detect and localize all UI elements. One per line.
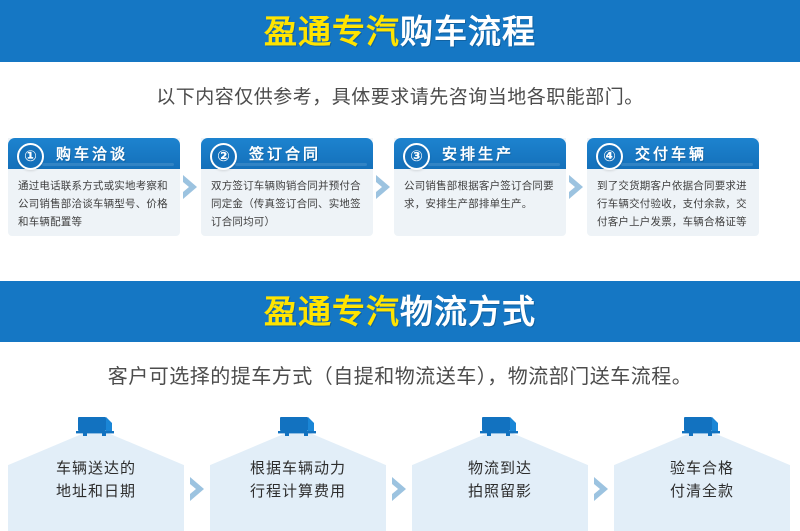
logistics-step-line2-3: 拍照留影 xyxy=(412,481,588,504)
logistics-subtitle: 客户可选择的提车方式（自提和物流送车），物流部门送车流程。 xyxy=(0,360,800,389)
truck-icon-2 xyxy=(276,414,320,438)
step-number-badge-3: ③ xyxy=(403,143,430,170)
purchase-step-header-3: ③ 安排生产 xyxy=(394,138,566,169)
purchase-step-body-3: 公司销售部根据客户签订合同要求，安排生产部排单生产。 xyxy=(394,169,566,219)
step-number-badge-2: ② xyxy=(210,143,237,170)
logistics-step-text-1: 车辆送达的 地址和日期 xyxy=(8,458,184,503)
logistics-step-line2-1: 地址和日期 xyxy=(8,481,184,504)
logistics-step-text-4: 验车合格 付清全款 xyxy=(614,458,790,503)
logistics-steps-row: 车辆送达的 地址和日期 根据车辆动力 行程计算费用 xyxy=(8,410,792,531)
chevron-right-icon-3 xyxy=(566,138,587,236)
logistics-banner-title: 盈通专汽物流方式 xyxy=(264,295,536,328)
logistics-step-line1-1: 车辆送达的 xyxy=(8,458,184,481)
chevron-right-icon-5 xyxy=(386,410,412,531)
logistics-banner: 盈通专汽物流方式 xyxy=(0,281,800,342)
logistics-step-line1-3: 物流到达 xyxy=(412,458,588,481)
truck-icon-1 xyxy=(74,414,118,438)
purchase-banner-rest: 购车流程 xyxy=(400,13,536,50)
logistics-step-text-2: 根据车辆动力 行程计算费用 xyxy=(210,458,386,503)
logistics-step-text-3: 物流到达 拍照留影 xyxy=(412,458,588,503)
truck-icon-3 xyxy=(478,414,522,438)
truck-icon-4 xyxy=(680,414,724,438)
purchase-banner: 盈通专汽购车流程 xyxy=(0,0,800,62)
purchase-step-header-2: ② 签订合同 xyxy=(201,138,373,169)
purchase-step-title-4: 交付车辆 xyxy=(635,143,707,164)
chevron-right-icon-1 xyxy=(180,138,201,236)
purchase-step-card-1[interactable]: ① 购车洽谈 通过电话联系方式或实地考察和公司销售部洽谈车辆型号、价格和车辆配置… xyxy=(8,138,180,236)
purchase-step-title-3: 安排生产 xyxy=(442,143,514,164)
logistics-step-card-4[interactable]: 验车合格 付清全款 xyxy=(614,410,790,531)
purchase-step-body-4: 到了交货期客户依据合同要求进行车辆交付验收，支付余款，交付客户上户发票，车辆合格… xyxy=(587,169,759,237)
logistics-step-line1-4: 验车合格 xyxy=(614,458,790,481)
purchase-banner-title: 盈通专汽购车流程 xyxy=(264,15,536,48)
step-number-badge-4: ④ xyxy=(596,143,623,170)
purchase-step-title-1: 购车洽谈 xyxy=(56,143,128,164)
logistics-step-line2-2: 行程计算费用 xyxy=(210,481,386,504)
purchase-step-card-2[interactable]: ② 签订合同 双方签订车辆购销合同并预付合同定金（传真签订合同、实地签订合同均可… xyxy=(201,138,373,236)
purchase-and-logistics-infographic: 盈通专汽购车流程 以下内容仅供参考，具体要求请先咨询当地各职能部门。 ① 购车洽… xyxy=(0,0,800,531)
purchase-banner-brand: 盈通专汽 xyxy=(264,13,400,50)
chevron-right-icon-6 xyxy=(588,410,614,531)
purchase-step-header-1: ① 购车洽谈 xyxy=(8,138,180,169)
logistics-step-line1-2: 根据车辆动力 xyxy=(210,458,386,481)
step-number-badge-1: ① xyxy=(17,143,44,170)
purchase-step-body-2: 双方签订车辆购销合同并预付合同定金（传真签订合同、实地签订合同均可） xyxy=(201,169,373,237)
purchase-subtitle: 以下内容仅供参考，具体要求请先咨询当地各职能部门。 xyxy=(0,82,800,109)
purchase-steps-row: ① 购车洽谈 通过电话联系方式或实地考察和公司销售部洽谈车辆型号、价格和车辆配置… xyxy=(8,138,792,238)
chevron-right-icon-4 xyxy=(184,410,210,531)
logistics-step-card-3[interactable]: 物流到达 拍照留影 xyxy=(412,410,588,531)
logistics-banner-rest: 物流方式 xyxy=(400,293,536,330)
purchase-step-title-2: 签订合同 xyxy=(249,143,321,164)
purchase-step-body-1: 通过电话联系方式或实地考察和公司销售部洽谈车辆型号、价格和车辆配置等 xyxy=(8,169,180,237)
purchase-step-header-4: ④ 交付车辆 xyxy=(587,138,759,169)
logistics-banner-brand: 盈通专汽 xyxy=(264,293,400,330)
purchase-step-card-4[interactable]: ④ 交付车辆 到了交货期客户依据合同要求进行车辆交付验收，支付余款，交付客户上户… xyxy=(587,138,759,236)
logistics-step-line2-4: 付清全款 xyxy=(614,481,790,504)
purchase-step-card-3[interactable]: ③ 安排生产 公司销售部根据客户签订合同要求，安排生产部排单生产。 xyxy=(394,138,566,236)
chevron-right-icon-2 xyxy=(373,138,394,236)
logistics-step-card-1[interactable]: 车辆送达的 地址和日期 xyxy=(8,410,184,531)
logistics-step-card-2[interactable]: 根据车辆动力 行程计算费用 xyxy=(210,410,386,531)
